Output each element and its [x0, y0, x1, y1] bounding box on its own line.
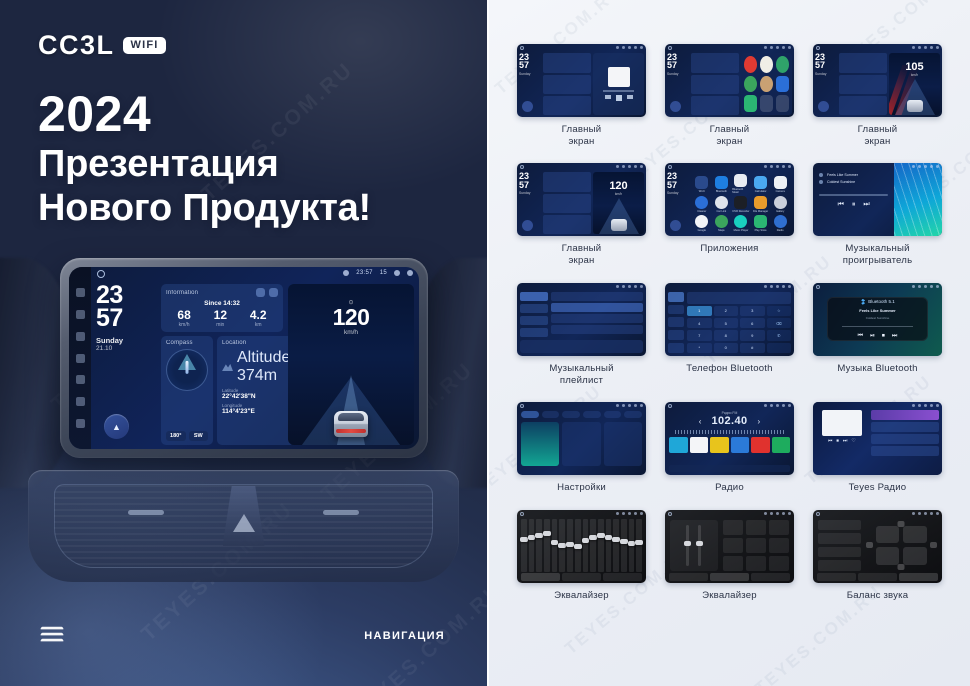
next-icon[interactable]: ⏭: [843, 438, 848, 444]
stat-item: 68 km/h: [177, 309, 190, 328]
music-player-screen[interactable]: Feels Like Summer Coldest Sunshine ⏮ ⏸ ⏭: [813, 163, 942, 236]
gallery-item[interactable]: Bluetooth 5.1 Feels Like Summer Coldest …: [809, 283, 947, 402]
car-model: [907, 100, 923, 112]
speaker-rear-left: [876, 547, 900, 565]
chevron-right-icon[interactable]: ›: [758, 417, 761, 426]
tuning-scale[interactable]: [675, 430, 784, 434]
key-0[interactable]: 0: [714, 343, 739, 353]
eq-band: [598, 519, 604, 572]
dashboard-illustration: 23:57 15 23 57 Sunday 21.10: [0, 248, 487, 686]
radio-band: Радио FM: [669, 411, 790, 415]
file-manager-icon[interactable]: [754, 196, 767, 209]
preset-5[interactable]: [751, 437, 770, 453]
speed-value: 120: [609, 180, 627, 192]
head-unit-screen[interactable]: 23:57 15 23 57 Sunday 21.10: [69, 267, 419, 449]
wifi-icon[interactable]: [695, 176, 708, 189]
favorites-icon[interactable]: ☆: [767, 306, 792, 316]
settings-tabs[interactable]: [521, 411, 642, 418]
rail-power-icon[interactable]: [76, 332, 85, 341]
thumb-status-bar: [813, 283, 942, 290]
rail-volume-down-icon[interactable]: [76, 397, 85, 406]
gallery-item[interactable]: Эквалайзер: [661, 510, 799, 618]
preset-vocal: [746, 538, 766, 553]
eq-band: [636, 519, 642, 572]
settings-icon: [668, 343, 684, 353]
stat-unit: min: [214, 322, 227, 328]
app-tile: Bluetooth Music: [732, 174, 750, 194]
gallery-caption: Главный экран: [562, 243, 602, 266]
thumbnail-teyes-radio[interactable]: ⏮ ⏹ ⏭ ♡: [813, 402, 942, 475]
preset-rock: [746, 520, 766, 535]
thumb-clock: 23 57 Sunday: [667, 172, 689, 234]
thumb-widgets: [691, 53, 739, 115]
clock-minutes: 57: [519, 61, 541, 69]
app-tile: File Manager: [752, 196, 770, 213]
preset-flat: [723, 556, 743, 571]
latitude-value: 22°42'38"N: [222, 393, 290, 400]
expand-icon[interactable]: [269, 288, 278, 297]
eq-tab-bar[interactable]: [817, 573, 938, 581]
drive-assist-widget[interactable]: ⊙ 120 km/h: [288, 284, 414, 445]
next-icon[interactable]: ⏭: [863, 201, 869, 209]
gallery-caption: Teyes Радио: [849, 482, 907, 494]
music-player-icon[interactable]: [734, 215, 747, 228]
information-card[interactable]: Information Since 14:32: [161, 284, 283, 332]
preset-bass: [769, 538, 789, 553]
speed-unit: km/h: [593, 192, 644, 196]
eq-band: [529, 519, 535, 572]
app-tile: Play Store: [752, 215, 770, 232]
eq-band: [536, 519, 542, 572]
list-item: [818, 520, 861, 531]
app-tile: Music Player: [732, 215, 750, 232]
status-volume: 15: [380, 270, 387, 276]
maps-icon[interactable]: [715, 215, 728, 228]
altitude-row: Altitude 374m: [222, 349, 290, 385]
tab-wifi: [521, 411, 539, 418]
refresh-icon[interactable]: [256, 288, 265, 297]
speed-unit: km/h: [288, 329, 414, 336]
dvr-recorder-icon[interactable]: [734, 196, 747, 209]
navigation-fab[interactable]: [818, 101, 829, 112]
radio-screen[interactable]: Радио FM ‹ 102.40 ›: [665, 402, 794, 475]
speed-unit: km/h: [889, 73, 940, 77]
gallery-item[interactable]: 23 57 Sunday Wi-Fi Bluetooth Bluetooth M…: [661, 163, 799, 282]
preset-2[interactable]: [690, 437, 709, 453]
key-7[interactable]: 7: [687, 330, 712, 340]
information-stats: 68 km/h 12 min 4.2: [166, 309, 278, 328]
gallery-item[interactable]: Настройки: [513, 402, 651, 510]
calculator-icon[interactable]: [754, 176, 767, 189]
list-item: [551, 292, 643, 301]
back-arrow-icon[interactable]: [407, 270, 413, 276]
hazard-triangle-icon: [233, 514, 255, 532]
gallery-caption: Радио: [715, 482, 744, 494]
presentation-slide: TEYES.COM.RU TEYES.COM.RU TEYES.COM.RU T…: [0, 0, 970, 686]
teyes-radio-screen[interactable]: ⏮ ⏹ ⏭ ♡: [813, 402, 942, 475]
bluetooth-icon[interactable]: [715, 176, 728, 189]
preset-jazz: [769, 520, 789, 535]
key-2[interactable]: 2: [714, 306, 739, 316]
hero-year: 2024: [38, 86, 371, 142]
progress-bar[interactable]: [842, 326, 912, 327]
teyes-station-list[interactable]: [871, 410, 939, 472]
playback-controls[interactable]: ⏮ ⏹ ⏭ ♡: [816, 438, 868, 444]
fader-right: [698, 525, 701, 566]
stat-value: 4.2: [250, 309, 267, 322]
thumb-status-bar: [665, 44, 794, 51]
clock-minutes: 57: [519, 181, 541, 189]
longitude-row: Longitude 114°4'23"E: [222, 403, 290, 415]
contacts-icon: [668, 305, 684, 315]
speed-readout: ⊙ 120 km/h: [288, 299, 414, 336]
thumb-drive-widget: 120 km/h: [593, 172, 644, 234]
eq-band: [590, 519, 596, 572]
console-button-left[interactable]: [128, 510, 164, 515]
longitude-value: 114°4'23"E: [222, 408, 290, 415]
bluetooth-version: Bluetooth 5.1: [860, 299, 895, 305]
track-artist: Coldest Sunshine: [827, 180, 855, 184]
track-row: Feels Like Summer: [819, 173, 888, 177]
stop-icon[interactable]: ⏹: [836, 438, 839, 444]
thumbnail-home-apps[interactable]: 23 57 Sunday: [665, 44, 794, 117]
track-title: Feels Like Summer: [859, 308, 895, 313]
progress-bar[interactable]: [819, 194, 888, 196]
google-icon[interactable]: [695, 215, 708, 228]
key-4[interactable]: 4: [687, 318, 712, 328]
center-console: [28, 470, 459, 582]
wifi-icon: [343, 270, 349, 276]
tab-display: [562, 411, 580, 418]
longitude-label: Longitude: [222, 403, 290, 408]
next-icon[interactable]: ⏭: [892, 333, 897, 340]
balance-right-button[interactable]: [930, 542, 937, 548]
phone-nav-rail[interactable]: [668, 292, 684, 353]
rail-volume-up-icon[interactable]: [76, 419, 85, 428]
clock-minutes: 57: [96, 307, 156, 330]
thumb-clock: 23 57 Sunday: [519, 172, 541, 234]
tab-eq: [669, 573, 708, 581]
balance-left-button[interactable]: [866, 542, 873, 548]
gallery-item[interactable]: Feels Like Summer Coldest Sunshine ⏮ ⏸ ⏭: [809, 163, 947, 282]
latitude-row: Latitude 22°42'38"N: [222, 388, 290, 400]
information-header: Information: [166, 288, 278, 297]
dialpad[interactable]: 123☆ 456⌫ 789✆ *0#: [687, 306, 791, 353]
gallery-caption: Баланс звука: [847, 590, 909, 602]
speed-value: 120: [288, 306, 414, 329]
home-icon: [816, 285, 820, 289]
eq-band: [544, 519, 550, 572]
screenshot-gallery: TEYES.COM.RU TEYES.COM.RU TEYES.COM.RU T…: [487, 0, 970, 686]
gallery-item[interactable]: Радио FM ‹ 102.40 ›: [661, 402, 799, 510]
gear-icon[interactable]: [394, 270, 400, 276]
thumb-drive-widget: 105 km/h: [889, 53, 940, 115]
rail-home-icon[interactable]: [76, 354, 85, 363]
compass-card[interactable]: Compass 180° SW: [161, 336, 213, 445]
fader-sliders[interactable]: [670, 520, 718, 571]
app-tile: Gallery: [771, 196, 789, 213]
key-1[interactable]: 1: [687, 306, 712, 316]
gallery-caption: Эквалайзер: [702, 590, 757, 602]
stat-value: 12: [214, 309, 227, 322]
tab-sound: [542, 411, 560, 418]
eq-band: [613, 519, 619, 572]
navigation-fab[interactable]: [104, 414, 129, 439]
preset-custom: [746, 556, 766, 571]
tab-fader: [710, 573, 749, 581]
preset-3[interactable]: [710, 437, 729, 453]
tab-eq: [817, 573, 856, 581]
thumb-status-bar: [813, 163, 942, 170]
information-since: Since 14:32: [166, 300, 278, 307]
key-6[interactable]: 6: [740, 318, 765, 328]
key-9[interactable]: 9: [740, 330, 765, 340]
gallery-icon[interactable]: [774, 196, 787, 209]
rail-prev-icon[interactable]: [76, 288, 85, 297]
back-icon[interactable]: [670, 220, 681, 231]
key-8[interactable]: 8: [714, 330, 739, 340]
balance-down-button[interactable]: [898, 564, 905, 570]
station-presets[interactable]: [669, 437, 790, 453]
clock-minutes: 57: [667, 61, 689, 69]
playback-controls[interactable]: ⏮ ⏸ ⏭: [819, 201, 888, 209]
dialer-main[interactable]: 123☆ 456⌫ 789✆ *0#: [687, 292, 791, 353]
thumb-music-widget: [593, 53, 644, 115]
list-item: [818, 547, 861, 558]
bluetooth-music-icon[interactable]: [734, 174, 747, 187]
radio-frequency: 102.40: [711, 415, 747, 427]
thumbnail-playlist[interactable]: [517, 283, 646, 356]
clock-date: 21.10: [96, 345, 156, 352]
chevron-left-icon[interactable]: ‹: [699, 417, 702, 426]
eq-band: [575, 519, 581, 572]
eq-band: [521, 519, 527, 572]
thumbnail-home-music[interactable]: 23 57 Sunday: [517, 44, 646, 117]
app-tile: Google: [693, 215, 711, 232]
tab-fader: [858, 573, 897, 581]
camera-icon[interactable]: [774, 176, 787, 189]
rail-back-icon[interactable]: [76, 375, 85, 384]
eq-band-sliders[interactable]: [521, 519, 642, 572]
speed-value: 105: [905, 61, 923, 73]
backspace-icon[interactable]: ⌫: [767, 318, 792, 328]
app-tile: Wi-Fi: [693, 174, 711, 194]
favorite-icon[interactable]: ♡: [851, 438, 855, 444]
information-actions[interactable]: [256, 288, 278, 297]
app-tile: DVR Recorder: [732, 196, 750, 213]
hero-title-line1: Презентация: [38, 142, 371, 186]
preset-1[interactable]: [669, 437, 688, 453]
play-pause-icon[interactable]: ⏯: [870, 333, 875, 340]
balance-up-button[interactable]: [898, 521, 905, 527]
spacer: [767, 343, 792, 353]
thumbnail-bt-music[interactable]: Bluetooth 5.1 Feels Like Summer Coldest …: [813, 283, 942, 356]
thumb-widgets: [543, 53, 591, 115]
app-tile: Bluetooth: [713, 174, 731, 194]
cleaner-icon[interactable]: [695, 196, 708, 209]
previous-icon[interactable]: ⏮: [838, 201, 844, 209]
playback-controls[interactable]: ⏮ ⏯ ⏹ ⏭: [858, 333, 898, 340]
gallery-item[interactable]: 123☆ 456⌫ 789✆ *0# Телефон Bluetooth: [661, 283, 799, 402]
gallery-item[interactable]: 23 57 Sunday 105: [809, 44, 947, 163]
key-hash[interactable]: #: [740, 343, 765, 353]
stat-item: 4.2 km: [250, 309, 267, 328]
eq-band: [559, 519, 565, 572]
thumb-clock: 23 57 Sunday: [667, 53, 689, 115]
screen-side-rail[interactable]: [69, 267, 91, 449]
bt-music-card: Bluetooth 5.1 Feels Like Summer Coldest …: [827, 297, 928, 341]
gallery-item[interactable]: Эквалайзер: [513, 510, 651, 618]
thumbnail-equalizer[interactable]: [517, 510, 646, 583]
app-tile: Camera: [771, 174, 789, 194]
info-column: Information Since 14:32: [161, 284, 283, 445]
car-link-icon[interactable]: [715, 196, 728, 209]
product-logo: CC3L WIFI: [38, 32, 166, 59]
thumbnail-music-player[interactable]: Feels Like Summer Coldest Sunshine ⏮ ⏸ ⏭: [813, 163, 942, 236]
music-track-list: Feels Like Summer Coldest Sunshine ⏮ ⏸ ⏭: [813, 163, 894, 236]
compass-heading: 180°: [166, 431, 186, 441]
logo-wifi-badge: WIFI: [123, 37, 166, 54]
key-star[interactable]: *: [687, 343, 712, 353]
list-item: [871, 410, 939, 420]
thumb-clock: 23 57 Sunday: [815, 53, 837, 115]
thumbnail-grid: 23 57 Sunday: [489, 0, 970, 618]
head-unit-bezel: 23:57 15 23 57 Sunday 21.10: [60, 258, 428, 458]
thumbnail-bt-phone[interactable]: 123☆ 456⌫ 789✆ *0#: [665, 283, 794, 356]
tab-apps: [604, 411, 622, 418]
gallery-item[interactable]: 23 57 Sunday 120 km/h: [513, 163, 651, 282]
call-icon[interactable]: ✆: [767, 330, 792, 340]
bluetooth-icon: [860, 299, 865, 305]
list-item: [871, 422, 939, 432]
thumbnail-apps[interactable]: 23 57 Sunday Wi-Fi Bluetooth Bluetooth M…: [665, 163, 794, 236]
radio-bottom-bar[interactable]: [669, 465, 790, 472]
speed-readout: 105 km/h: [889, 61, 940, 77]
gallery-item[interactable]: 23 57 Sunday: [513, 44, 651, 163]
eq-band: [606, 519, 612, 572]
layers-icon: [41, 626, 63, 644]
previous-icon[interactable]: ⏮: [828, 438, 833, 444]
preset-pop: [723, 520, 743, 535]
mini-player-bar[interactable]: [520, 340, 643, 353]
wifi-card[interactable]: [521, 422, 559, 466]
app-tile: Radio: [771, 215, 789, 232]
gallery-caption: Главный экран: [710, 124, 750, 147]
hero-panel: TEYES.COM.RU TEYES.COM.RU TEYES.COM.RU T…: [0, 0, 487, 686]
app-drawer[interactable]: Wi-Fi Bluetooth Bluetooth Music Calculat…: [691, 172, 791, 234]
compass-direction: SW: [189, 431, 209, 441]
settings-cards[interactable]: [521, 422, 642, 466]
gallery-item[interactable]: 23 57 Sunday: [661, 44, 799, 163]
dialer-screen[interactable]: 123☆ 456⌫ 789✆ *0#: [665, 283, 794, 356]
radio-icon[interactable]: [774, 215, 787, 228]
eq-band: [621, 519, 627, 572]
balance-pad[interactable]: [866, 520, 937, 571]
car-model: [334, 411, 368, 437]
list-item: [871, 446, 939, 456]
pause-icon[interactable]: ⏸: [852, 201, 856, 209]
eq-tab-bar[interactable]: [669, 573, 790, 581]
latitude-label: Latitude: [222, 388, 290, 393]
hero-title-line2: Нового Продукта!: [38, 186, 371, 230]
list-item: [818, 533, 861, 544]
preset-6[interactable]: [772, 437, 791, 453]
balance-presets[interactable]: [818, 520, 861, 571]
tab-about: [624, 411, 642, 418]
list-item: [551, 303, 643, 312]
thumbnail-balance[interactable]: [813, 510, 942, 583]
clock-day: Sunday: [815, 72, 837, 76]
gallery-caption: Эквалайзер: [554, 590, 609, 602]
navigation-label: НАВИГАЦИЯ: [364, 630, 445, 642]
clock-day: Sunday: [519, 191, 541, 195]
call-log-icon: [668, 330, 684, 340]
fader-left: [686, 525, 689, 566]
stat-value: 68: [177, 309, 190, 322]
album-visualizer: [894, 163, 942, 236]
status-bar: 23:57 15: [343, 270, 413, 276]
thumbnail-settings[interactable]: [517, 402, 646, 475]
bt-music-screen[interactable]: Bluetooth 5.1 Feels Like Summer Coldest …: [813, 283, 942, 356]
gallery-caption: Главный экран: [858, 124, 898, 147]
car-link-card[interactable]: [562, 422, 600, 466]
stop-icon[interactable]: ⏹: [882, 333, 885, 340]
logo-model-name: CC3L: [38, 32, 115, 59]
track-title: Feels Like Summer: [827, 173, 858, 177]
thumbnail-home-navi[interactable]: 23 57 Sunday 105: [813, 44, 942, 117]
settings-screen[interactable]: [517, 402, 646, 475]
location-card[interactable]: Location Altitude 374m: [217, 336, 295, 445]
key-5[interactable]: 5: [714, 318, 739, 328]
list-item: [871, 434, 939, 444]
thumbnail-equalizer-fader[interactable]: [665, 510, 794, 583]
speaker-front-left: [876, 526, 900, 544]
console-button-right[interactable]: [323, 510, 359, 515]
gallery-item[interactable]: Баланс звука: [809, 510, 947, 618]
app-tile: Car Link: [713, 196, 731, 213]
preset-4[interactable]: [731, 437, 750, 453]
eq-band: [552, 519, 558, 572]
gallery-caption: Настройки: [557, 482, 606, 494]
previous-icon[interactable]: ⏮: [858, 333, 863, 340]
list-item: [551, 314, 643, 323]
gallery-caption: Главный экран: [562, 124, 602, 147]
navigation-fab[interactable]: [670, 101, 681, 112]
list-item: [551, 325, 643, 334]
preset-buttons[interactable]: [723, 520, 789, 571]
navigation-fab[interactable]: [522, 220, 533, 231]
gallery-item[interactable]: ⏮ ⏹ ⏭ ♡ Teyes Радио: [809, 402, 947, 510]
rail-next-icon[interactable]: [76, 310, 85, 319]
stat-item: 12 min: [214, 309, 227, 328]
preset-dance: [769, 556, 789, 571]
home-icon[interactable]: [97, 270, 105, 278]
play-store-icon[interactable]: [754, 215, 767, 228]
altitude-value: 374m: [237, 367, 277, 384]
eq-tab-bar[interactable]: [521, 573, 642, 581]
information-title: Information: [166, 290, 198, 296]
navigation-fab[interactable]: [522, 101, 533, 112]
gallery-item[interactable]: Музыкальный плейлист: [513, 283, 651, 402]
key-3[interactable]: 3: [740, 306, 765, 316]
more-card[interactable]: [604, 422, 642, 466]
thumbnail-radio[interactable]: Радио FM ‹ 102.40 ›: [665, 402, 794, 475]
tab-system: [583, 411, 601, 418]
thumbnail-home-drive[interactable]: 23 57 Sunday 120 km/h: [517, 163, 646, 236]
compass-dial: [166, 349, 208, 391]
app-tile: Maps: [713, 215, 731, 232]
teyes-player: ⏮ ⏹ ⏭ ♡: [816, 410, 868, 472]
